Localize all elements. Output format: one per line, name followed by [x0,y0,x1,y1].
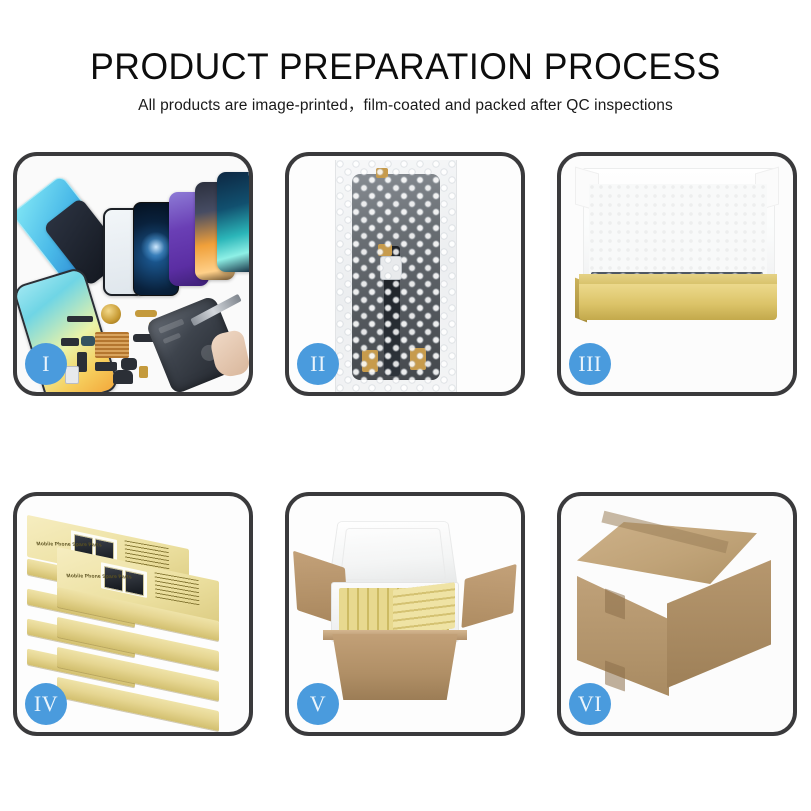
step-3-image: III [561,156,793,392]
page-title: PRODUCT PREPARATION PROCESS [16,46,795,88]
part-small-flex [61,338,79,346]
step-badge-5: V [297,683,339,725]
part-vibrator [95,362,117,371]
step-badge-6: VI [569,683,611,725]
part-gold-screw-pack [139,366,148,378]
part-copper-mesh [95,332,129,358]
sealed-carton-right-face [667,560,771,688]
part-speaker-coil [101,304,121,324]
box-label-front: Mobile Phone Spare Parts [66,573,132,580]
step-panel-1: I [13,152,253,396]
bubble-texture [336,160,456,392]
part-flex-connector [81,336,95,346]
step-4-image: Mobile Phone Spare Parts Mobile Phone Sp… [17,496,249,732]
bubble-wrap-bag [335,160,457,392]
step-panel-2: II [285,152,525,396]
step-2-image: II [289,156,521,392]
step-badge-3: III [569,343,611,385]
part-earpiece-mesh [67,316,93,322]
part-loudspeaker [113,370,133,384]
gold-boxes-second-row [393,582,455,636]
process-steps-grid: I II [13,152,798,740]
step-panel-3: III [557,152,797,396]
step-panel-6: VI [557,492,797,736]
box-label-rear: Mobile Phone Spare Parts [36,541,102,548]
gold-box-tray [579,284,777,320]
step-panel-4: Mobile Phone Spare Parts Mobile Phone Sp… [13,492,253,736]
step-badge-2: II [297,343,339,385]
foam-box-lid [328,521,459,590]
product-preparation-infographic: PRODUCT PREPARATION PROCESS All products… [0,0,811,811]
step-badge-1: I [25,343,67,385]
step-1-image: I [17,156,249,392]
part-sim-tray [65,366,79,384]
step-6-image: VI [561,496,793,732]
box-print-spec-front [155,572,200,606]
carton-body [327,634,463,700]
step-panel-5: V [285,492,525,736]
part-gold-bracket [135,310,157,317]
step-5-image: V [289,496,521,732]
carton-flap-right [461,564,516,628]
page-subtitle: All products are image-printed，film-coat… [0,96,811,116]
foam-liner [589,184,767,284]
part-camera-module [121,358,137,370]
step-badge-4: IV [25,683,67,725]
phone-display-teal [217,172,249,272]
header: PRODUCT PREPARATION PROCESS All products… [0,0,811,116]
